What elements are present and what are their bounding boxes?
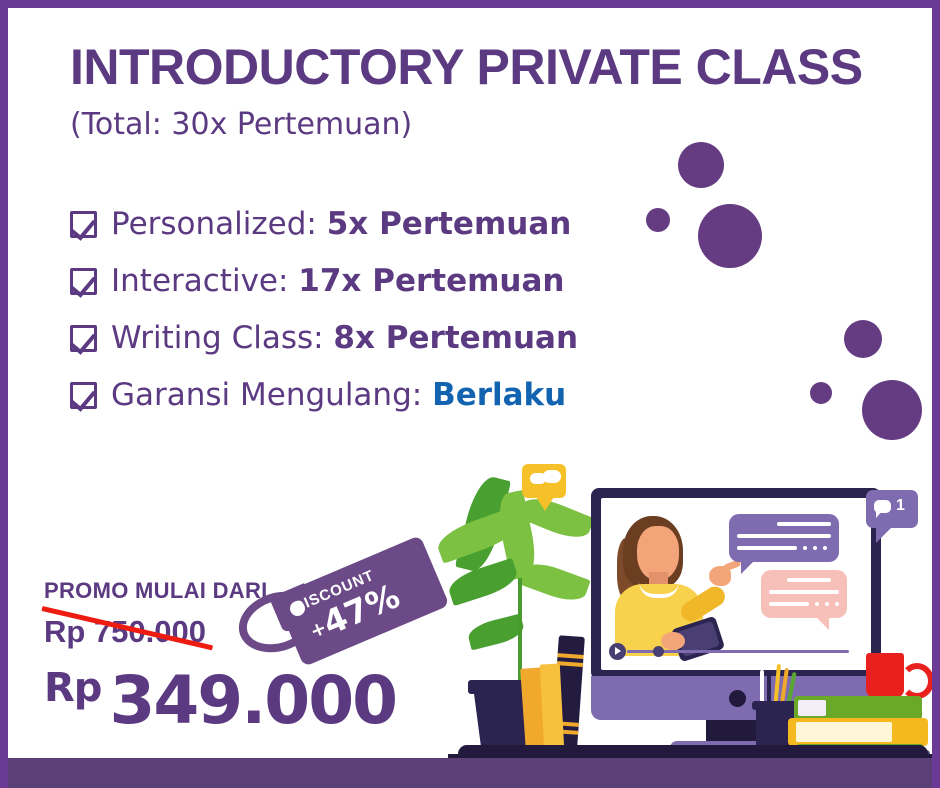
play-button-icon[interactable]	[609, 643, 626, 660]
promo-poster: INTRODUCTORY PRIVATE CLASS (Total: 30x P…	[0, 0, 940, 788]
chat-dot	[815, 602, 819, 606]
discount-tag: DISCOUNT +47%	[263, 553, 463, 673]
feature-label: Interactive:	[111, 263, 298, 299]
feature-text: Garansi Mengulang: Berlaku	[111, 380, 566, 411]
chat-line	[769, 590, 839, 594]
avatar-hand-2	[661, 632, 685, 650]
chat-bubble-purple-tail	[741, 560, 755, 574]
feature-label: Writing Class:	[111, 320, 333, 356]
book-pages	[798, 700, 826, 716]
checkbox-checked-icon	[70, 325, 97, 352]
checkbox-checked-icon	[70, 268, 97, 295]
online-class-illustration: 1	[448, 458, 940, 768]
feature-value: 17x Pertemuan	[298, 263, 564, 299]
list-item: Writing Class: 8x Pertemuan	[70, 310, 578, 367]
video-progress-knob[interactable]	[653, 646, 664, 657]
feature-label: Garansi Mengulang:	[111, 377, 432, 413]
chat-dot	[825, 602, 829, 606]
notification-count: 1	[896, 497, 905, 515]
checkbox-checked-icon	[70, 211, 97, 238]
chat-bubble-pink-tail	[815, 616, 829, 630]
chat-line	[769, 602, 809, 606]
feature-label: Personalized:	[111, 206, 327, 242]
price-amount: 349.000	[109, 662, 396, 739]
list-item: Garansi Mengulang: Berlaku	[70, 367, 578, 424]
list-item: Personalized: 5x Pertemuan	[70, 196, 578, 253]
chat-line	[737, 546, 797, 550]
chat-dot	[823, 546, 827, 550]
feature-value: Berlaku	[432, 377, 566, 413]
mug-handle	[900, 663, 934, 699]
chat-icon	[874, 500, 891, 513]
feature-text: Interactive: 17x Pertemuan	[111, 266, 564, 297]
decor-circle-2	[646, 208, 670, 232]
new-price: Rp349.000	[44, 668, 396, 734]
plant-leaf-icon	[517, 557, 590, 607]
coffee-mug	[866, 653, 904, 697]
chat-dot	[803, 546, 807, 550]
monitor-screen	[601, 498, 871, 670]
feature-value: 8x Pertemuan	[333, 320, 578, 356]
feature-text: Writing Class: 8x Pertemuan	[111, 323, 578, 354]
page-subtitle: (Total: 30x Pertemuan)	[70, 110, 412, 140]
decor-circle-6	[862, 380, 922, 440]
checkbox-checked-icon	[70, 382, 97, 409]
chat-line	[777, 522, 831, 526]
decor-circle-1	[678, 142, 724, 188]
list-item: Interactive: 17x Pertemuan	[70, 253, 578, 310]
decor-circle-5	[810, 382, 832, 404]
chat-line	[737, 534, 831, 538]
feature-text: Personalized: 5x Pertemuan	[111, 209, 571, 240]
chat-dot	[835, 602, 839, 606]
promo-label: PROMO MULAI DARI	[44, 578, 268, 604]
footer-band	[0, 758, 940, 788]
currency-symbol: Rp	[44, 665, 101, 711]
chat-dot-icon	[543, 470, 561, 483]
chat-line	[787, 578, 831, 582]
decor-circle-4	[844, 320, 882, 358]
feature-list: Personalized: 5x Pertemuan Interactive: …	[70, 196, 578, 424]
chat-dot	[813, 546, 817, 550]
book-pages	[796, 722, 892, 742]
monitor-power-button	[729, 690, 746, 707]
old-price: Rp 750.000	[44, 614, 206, 650]
decor-circle-3	[698, 204, 762, 268]
page-title: INTRODUCTORY PRIVATE CLASS	[70, 42, 863, 92]
feature-value: 5x Pertemuan	[327, 206, 572, 242]
